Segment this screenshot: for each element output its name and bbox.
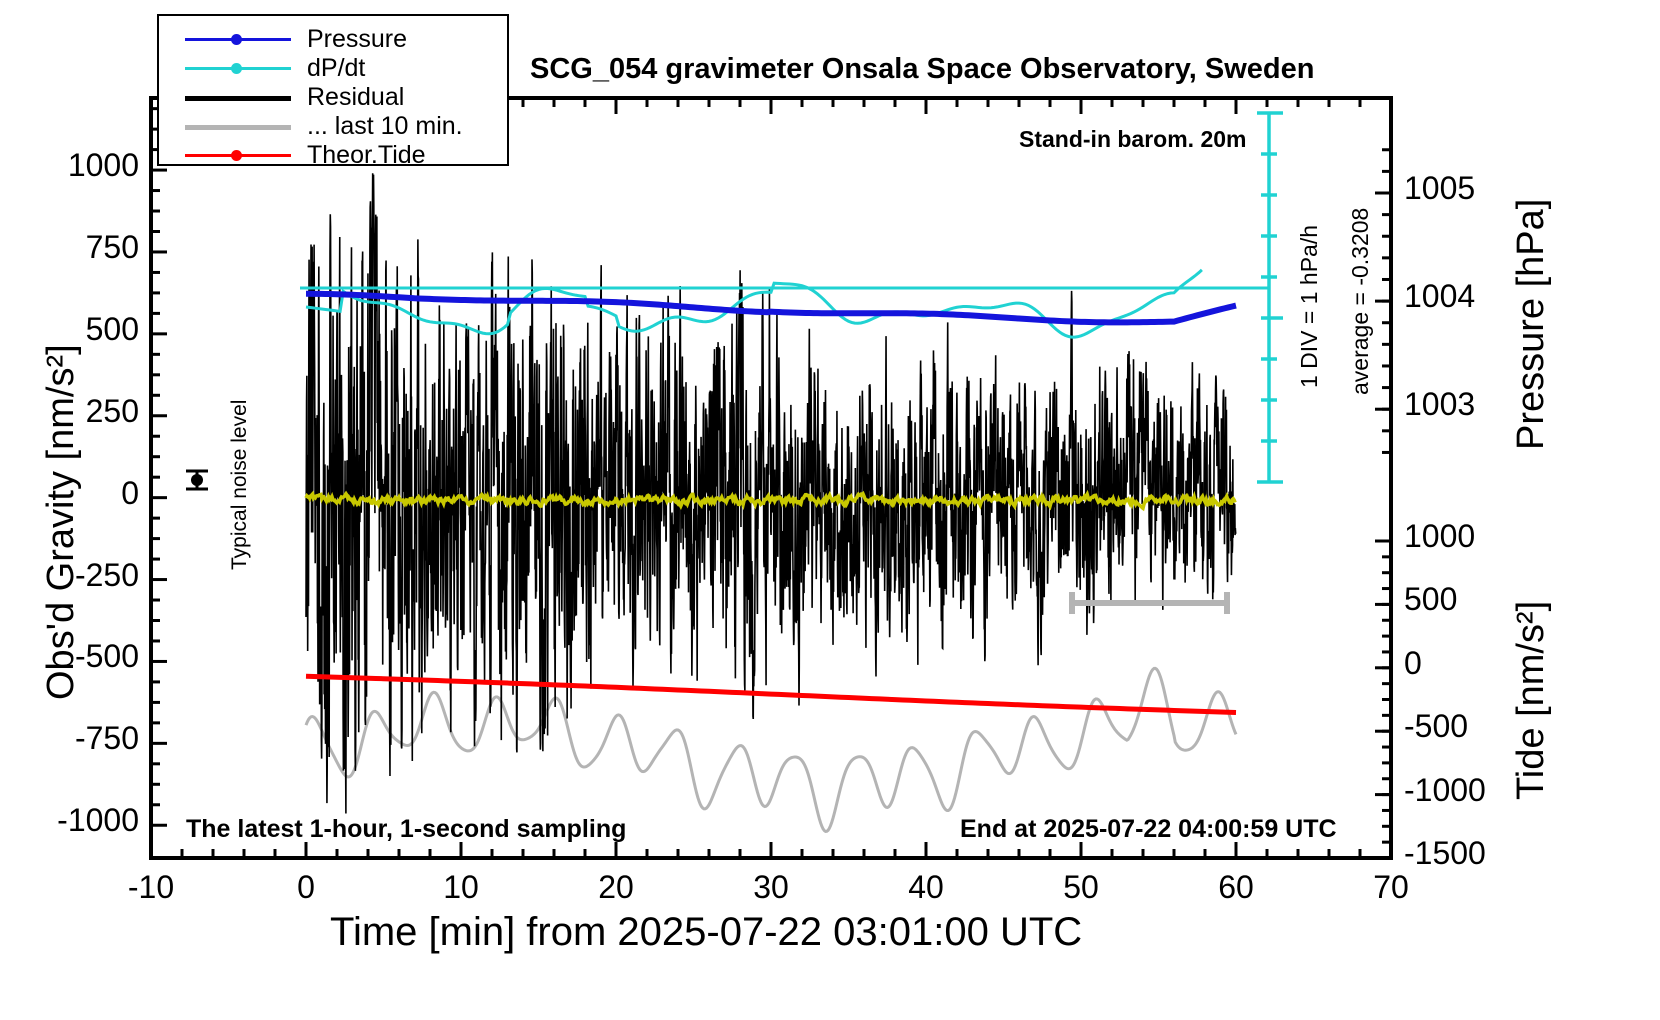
legend-label: Theor.Tide: [307, 141, 426, 170]
tick-label: 500: [1404, 581, 1457, 618]
tick-label: 70: [1373, 869, 1409, 906]
tick-label: 1000: [1404, 518, 1475, 555]
last-10-min-span-bar: [1072, 592, 1227, 614]
tick-label: 30: [753, 869, 789, 906]
tick-label: 0: [121, 475, 139, 512]
tick-label: 40: [908, 869, 944, 906]
legend-marker-dot: [231, 34, 242, 45]
legend-item[interactable]: Pressure: [159, 24, 507, 54]
legend-label: ... last 10 min.: [307, 112, 463, 141]
tick-label: -250: [75, 557, 139, 594]
tick-label: 1003: [1404, 386, 1475, 423]
annotation-typical-noise: Typical noise level: [228, 400, 252, 570]
legend-item[interactable]: dP/dt: [159, 53, 507, 83]
annotation-average: average = -0.3208: [1347, 208, 1374, 395]
y-axis-right-pressure-label: Pressure [hPa]: [1510, 199, 1553, 450]
annotation-sampling-note: The latest 1-hour, 1-second sampling: [186, 815, 626, 844]
chart-title: SCG_054 gravimeter Onsala Space Observat…: [530, 53, 1314, 86]
tick-label: 1004: [1404, 278, 1475, 315]
tick-label: -10: [128, 869, 174, 906]
legend: PressuredP/dtResidual... last 10 min.The…: [157, 14, 509, 166]
tick-label: 0: [1404, 645, 1422, 682]
tick-label: 0: [297, 869, 315, 906]
tick-label: 60: [1218, 869, 1254, 906]
annotation-div-scale: 1 DIV = 1 hPa/h: [1296, 225, 1323, 388]
tick-label: 20: [598, 869, 634, 906]
legend-line-swatch: [185, 96, 291, 101]
gravimeter-plot: PressuredP/dtResidual... last 10 min.The…: [0, 0, 1660, 1020]
legend-item[interactable]: Residual: [159, 82, 507, 112]
legend-line-swatch: [185, 125, 291, 130]
legend-item[interactable]: ... last 10 min.: [159, 111, 507, 141]
tick-label: -1000: [1404, 772, 1486, 809]
typical-noise-marker: [186, 471, 208, 489]
legend-label: Residual: [307, 83, 404, 112]
y-axis-left-ticks: [151, 109, 167, 826]
tick-label: -1000: [57, 802, 139, 839]
series-pressure: [306, 294, 1236, 323]
tick-label: 1005: [1404, 170, 1475, 207]
legend-label: dP/dt: [307, 54, 365, 83]
dpdt-scale-bar: [1257, 113, 1283, 482]
tick-label: 1000: [68, 147, 139, 184]
tick-label: 500: [86, 311, 139, 348]
annotation-end-time: End at 2025-07-22 04:00:59 UTC: [960, 815, 1337, 844]
legend-item[interactable]: Theor.Tide: [159, 140, 507, 170]
tick-label: 250: [86, 393, 139, 430]
x-axis-label: Time [min] from 2025-07-22 03:01:00 UTC: [330, 910, 1082, 955]
tick-label: -500: [75, 638, 139, 675]
legend-label: Pressure: [307, 25, 407, 54]
tick-label: 50: [1063, 869, 1099, 906]
tick-label: -500: [1404, 708, 1468, 745]
y-axis-right-ticks: [1375, 150, 1391, 858]
legend-marker-dot: [231, 63, 242, 74]
y-axis-right-tide-label: Tide [nm/s²]: [1510, 601, 1553, 800]
tick-label: -1500: [1404, 835, 1486, 872]
series-theor-tide: [306, 676, 1236, 712]
tick-label: 750: [86, 229, 139, 266]
tick-label: 10: [443, 869, 479, 906]
legend-marker-dot: [231, 150, 242, 161]
tick-label: -750: [75, 720, 139, 757]
annotation-standin-barom: Stand-in barom. 20m: [1019, 126, 1246, 153]
